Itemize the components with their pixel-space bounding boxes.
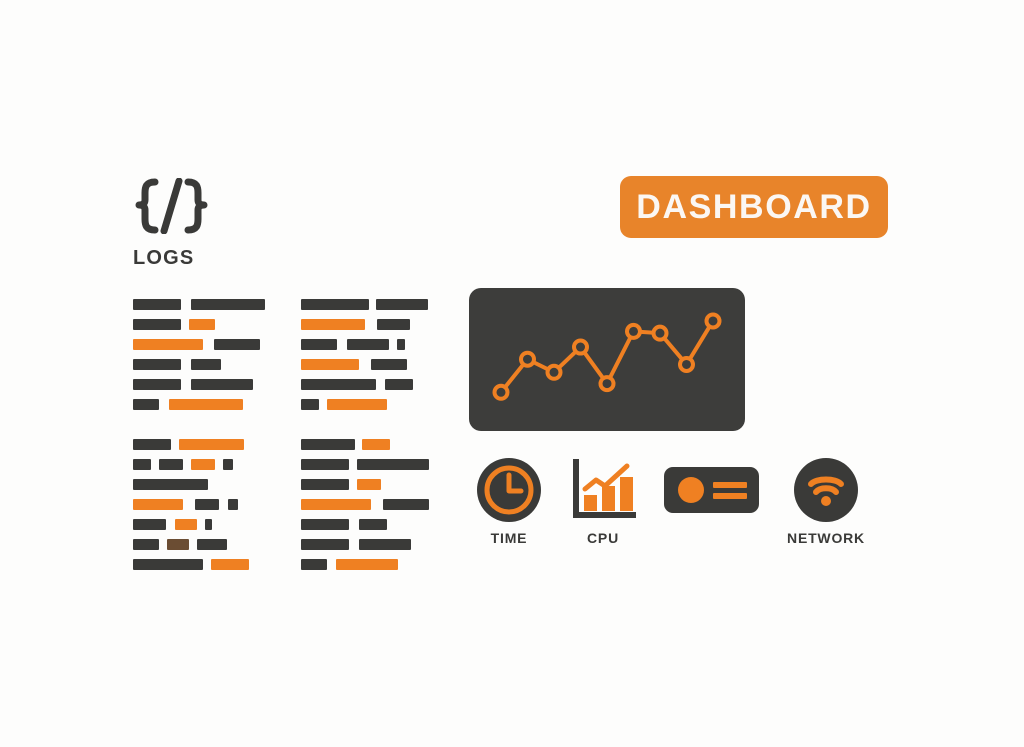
log-segment-orange <box>211 559 249 570</box>
log-line <box>301 559 429 570</box>
metric-cpu-label: CPU <box>587 531 619 545</box>
log-line <box>133 319 265 330</box>
dashboard-button-label: DASHBOARD <box>636 190 871 224</box>
log-segment-dark <box>385 379 413 390</box>
log-segment-dark <box>191 359 221 370</box>
log-segment-dark <box>301 379 376 390</box>
log-segment-gap <box>349 539 359 550</box>
log-segment-dark <box>133 459 151 470</box>
log-line <box>133 459 265 470</box>
chart-point[interactable] <box>680 358 693 371</box>
metric-time-label: TIME <box>491 531 528 545</box>
log-segment-gap <box>159 399 169 410</box>
log-segment-dark <box>371 359 407 370</box>
chart-point[interactable] <box>574 341 587 354</box>
log-line <box>133 479 265 490</box>
log-segment-gap <box>337 339 347 350</box>
log-segment-gap <box>219 499 228 510</box>
log-line <box>133 419 265 430</box>
log-segment-dark <box>133 379 181 390</box>
log-segment-orange <box>327 399 387 410</box>
log-segment-dark <box>376 299 428 310</box>
log-segment-dark <box>301 299 369 310</box>
log-segment-gap <box>181 319 189 330</box>
log-line <box>133 559 265 570</box>
log-segment-orange <box>191 459 215 470</box>
log-segment-gap <box>181 359 191 370</box>
log-line <box>133 499 265 510</box>
log-segment-gap <box>189 539 197 550</box>
log-line <box>301 459 429 470</box>
log-segment-dark <box>133 539 159 550</box>
log-segment-dark <box>301 339 337 350</box>
metric-cpu-icon-box <box>569 455 637 525</box>
log-segment-orange <box>133 339 203 350</box>
log-segment-dark <box>359 539 411 550</box>
log-segment-dark <box>359 519 387 530</box>
log-segment-dark <box>301 559 327 570</box>
log-line <box>301 499 429 510</box>
log-segment-dark <box>301 439 355 450</box>
log-segment-gap <box>389 339 397 350</box>
log-segment-gap <box>355 439 362 450</box>
log-segment-gap <box>349 479 357 490</box>
log-line <box>133 439 265 450</box>
log-segment-gap <box>327 559 336 570</box>
log-line <box>133 299 265 310</box>
log-segment-orange <box>169 399 243 410</box>
log-line <box>301 339 429 350</box>
metrics-chart-panel[interactable] <box>469 288 745 431</box>
log-segment-dark <box>133 519 166 530</box>
log-segment-gap <box>181 299 191 310</box>
chart-point[interactable] <box>654 327 667 340</box>
log-segment-gap <box>183 459 191 470</box>
log-segment-dark <box>301 519 349 530</box>
wifi-icon <box>793 457 859 523</box>
log-segment-gap <box>203 339 214 350</box>
log-segment-dark <box>191 299 265 310</box>
log-line <box>133 519 265 530</box>
log-segment-gap <box>376 379 385 390</box>
log-segment-gap <box>183 499 195 510</box>
log-segment-dark <box>357 459 429 470</box>
log-segment-dark <box>301 539 349 550</box>
log-line <box>301 519 429 530</box>
metric-status[interactable] <box>651 455 771 531</box>
metric-status-icon-box <box>664 455 759 525</box>
log-segment-dark <box>133 359 181 370</box>
chart-point[interactable] <box>601 377 614 390</box>
chart-point[interactable] <box>495 386 508 399</box>
clock-icon <box>476 457 542 523</box>
log-segment-gap <box>181 379 191 390</box>
log-column-right <box>301 299 429 579</box>
log-line <box>301 419 429 430</box>
log-segment-gap <box>365 319 377 330</box>
log-line <box>133 379 265 390</box>
log-segment-dark <box>159 459 183 470</box>
log-segment-brown <box>167 539 189 550</box>
log-segment-orange <box>362 439 390 450</box>
chart-point[interactable] <box>521 353 534 366</box>
log-line <box>301 319 429 330</box>
log-segment-gap <box>359 359 371 370</box>
log-line <box>301 439 429 450</box>
log-lines-area <box>133 299 429 579</box>
log-segment-dark <box>223 459 233 470</box>
log-segment-dark <box>133 439 171 450</box>
log-segment-dark <box>214 339 260 350</box>
log-segment-dark <box>133 399 159 410</box>
log-segment-dark <box>133 479 208 490</box>
log-segment-gap <box>197 519 205 530</box>
metric-time[interactable]: TIME <box>463 455 555 545</box>
log-line <box>301 399 429 410</box>
dashboard-button[interactable]: DASHBOARD <box>620 176 888 238</box>
log-segment-dark <box>347 339 389 350</box>
log-segment-dark <box>383 499 429 510</box>
log-line <box>133 399 265 410</box>
log-segment-orange <box>189 319 215 330</box>
log-line <box>301 299 429 310</box>
log-segment-gap <box>349 459 357 470</box>
log-segment-dark <box>377 319 410 330</box>
log-segment-orange <box>133 499 183 510</box>
log-line <box>301 359 429 370</box>
log-segment-orange <box>179 439 244 450</box>
status-badge-icon <box>664 467 759 513</box>
log-line <box>133 359 265 370</box>
metric-network[interactable]: NETWORK <box>771 455 881 545</box>
metric-cpu[interactable]: CPU <box>555 455 651 545</box>
metrics-icon-row: TIME CPU <box>463 455 881 545</box>
log-segment-dark <box>133 299 181 310</box>
log-segment-dark <box>133 559 203 570</box>
log-segment-dark <box>197 539 227 550</box>
log-line <box>133 539 265 550</box>
line-chart <box>469 288 745 431</box>
log-line <box>301 539 429 550</box>
log-segment-gap <box>371 499 383 510</box>
bar-chart-icon <box>569 458 637 522</box>
log-segment-gap <box>369 299 376 310</box>
log-segment-dark <box>301 399 319 410</box>
chart-point[interactable] <box>548 366 561 379</box>
log-segment-orange <box>301 319 365 330</box>
log-segment-orange <box>301 359 359 370</box>
log-segment-dark <box>301 479 349 490</box>
log-segment-orange <box>336 559 398 570</box>
code-brackets-icon <box>133 178 211 234</box>
log-segment-gap <box>151 459 159 470</box>
logs-label: LOGS <box>133 248 333 268</box>
log-segment-orange <box>301 499 371 510</box>
log-segment-dark <box>397 339 405 350</box>
log-column-left <box>133 299 265 579</box>
log-segment-dark <box>228 499 238 510</box>
log-segment-dark <box>191 379 253 390</box>
log-line <box>133 339 265 350</box>
log-segment-gap <box>215 459 223 470</box>
log-segment-gap <box>203 559 211 570</box>
log-segment-gap <box>171 439 179 450</box>
log-segment-gap <box>166 519 175 530</box>
metric-network-icon-box <box>793 455 859 525</box>
metric-time-icon-box <box>476 455 542 525</box>
illustration-canvas: LOGS DASHBOARD TIME <box>0 0 1024 747</box>
metric-network-label: NETWORK <box>787 531 865 545</box>
chart-point[interactable] <box>627 325 640 338</box>
logs-section-header: LOGS <box>133 178 333 268</box>
log-segment-gap <box>349 519 359 530</box>
log-line <box>301 379 429 390</box>
log-segment-dark <box>195 499 219 510</box>
log-segment-gap <box>159 539 167 550</box>
log-line <box>301 479 429 490</box>
log-segment-dark <box>205 519 212 530</box>
log-segment-gap <box>319 399 327 410</box>
log-segment-dark <box>133 319 181 330</box>
chart-point[interactable] <box>707 314 720 327</box>
log-segment-orange <box>175 519 197 530</box>
log-segment-dark <box>301 459 349 470</box>
log-segment-orange <box>357 479 381 490</box>
